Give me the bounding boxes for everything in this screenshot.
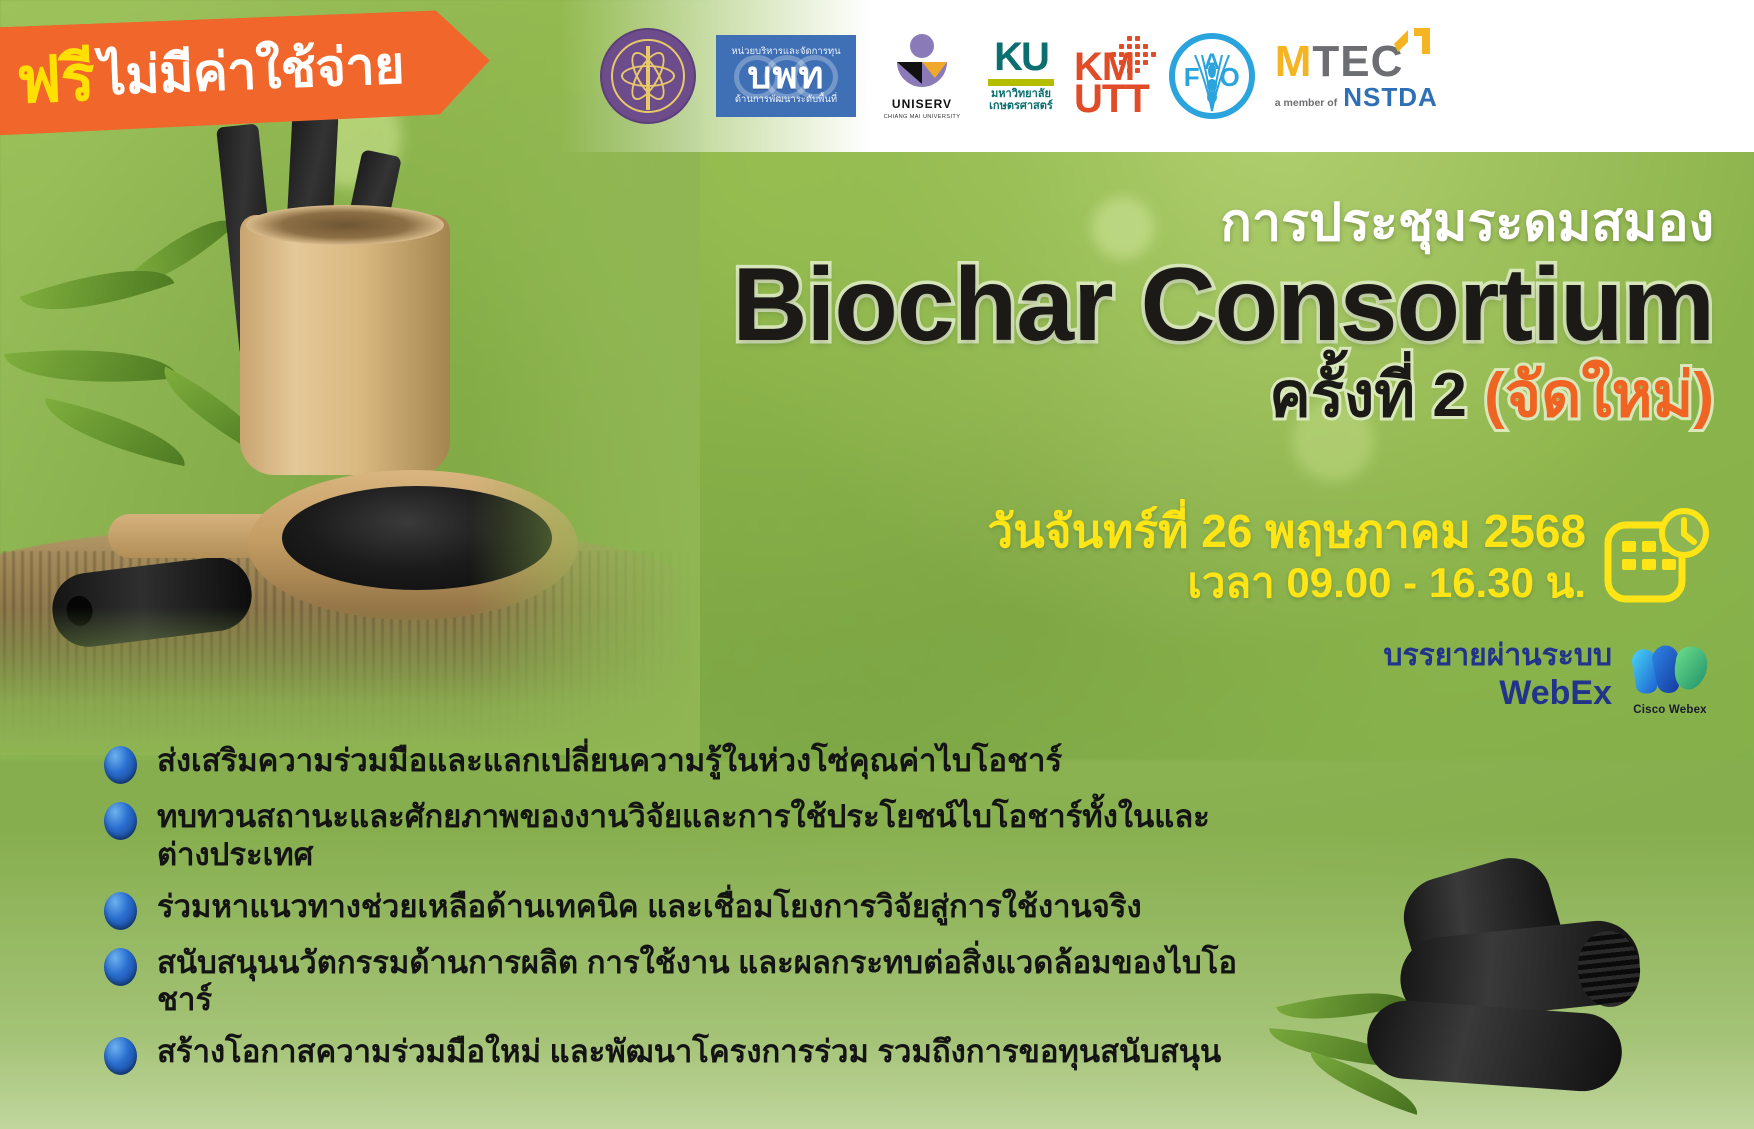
- broadcast-via-label: บรรยายผ่านระบบ: [1383, 639, 1612, 674]
- objective-text: สร้างโอกาสความร่วมมือใหม่ และพัฒนาโครงกา…: [157, 1033, 1221, 1071]
- bullet-dot-icon: [104, 802, 137, 840]
- objective-text: สนับสนุนนวัตกรรมด้านการผลิต การใช้งาน แล…: [157, 944, 1244, 1020]
- list-item: สนับสนุนนวัตกรรมด้านการผลิต การใช้งาน แล…: [104, 944, 1244, 1020]
- ministry-higher-education-seal: [600, 28, 696, 124]
- objective-text: ทบทวนสถานะและศักยภาพของงานวิจัยและการใช้…: [157, 798, 1244, 874]
- bullet-dot-icon: [104, 892, 137, 930]
- ku-initials: KU: [994, 39, 1048, 76]
- event-date: วันจันทร์ที่ 26 พฤษภาคม 2568: [987, 504, 1586, 558]
- list-item: ส่งเสริมความร่วมมือและแลกเปลี่ยนความรู้ใ…: [104, 742, 1244, 784]
- fao-letter-a: A: [1204, 49, 1220, 75]
- bullet-dot-icon: [104, 746, 137, 784]
- bullet-dot-icon: [104, 1037, 137, 1075]
- list-item: สร้างโอกาสความร่วมมือใหม่ และพัฒนาโครงกา…: [104, 1033, 1244, 1075]
- objectives-list: ส่งเสริมความร่วมมือและแลกเปลี่ยนความรู้ใ…: [104, 742, 1244, 1089]
- ku-thai-line1: มหาวิทยาลัย: [989, 88, 1053, 100]
- partner-logo-bar: หน่วยบริหารและจัดการทุน บพท ด้านการพัฒนา…: [560, 0, 1754, 152]
- trident-icon: [646, 46, 650, 110]
- photo-bottom-fade: [0, 607, 700, 755]
- fao-letter-f: F: [1184, 62, 1200, 93]
- webex-block: บรรยายผ่านระบบ WebEx: [1383, 636, 1714, 716]
- bpt-rings-icon: [734, 55, 838, 99]
- fao-logo: F A O: [1169, 33, 1255, 119]
- cisco-webex-caption: Cisco Webex: [1626, 704, 1714, 716]
- mtec-nstda-logo: MTEC a member of NSTDA: [1275, 42, 1438, 110]
- webex-mark-icon: [1626, 636, 1714, 702]
- mtec-block: MTEC a member of NSTDA: [1275, 42, 1438, 110]
- ku-block: KU มหาวิทยาลัย เกษตรศาสตร์: [988, 39, 1054, 112]
- event-datetime-block: วันจันทร์ที่ 26 พฤษภาคม 2568 เวลา 09.00 …: [987, 504, 1714, 609]
- uniserv-cmu-logo: UNISERV CHIANG MAI UNIVERSITY: [876, 32, 968, 120]
- free-label: ฟรี: [15, 46, 95, 113]
- event-subtitle: ครั้งที่ 2 (จัดใหม่): [554, 361, 1714, 430]
- mtec-member-of-label: a member of: [1275, 97, 1337, 109]
- list-item: ร่วมหาแนวทางช่วยเหลือด้านเทคนิค และเชื่อ…: [104, 888, 1244, 930]
- headline-block: การประชุมระดมสมอง Biochar Consortium ครั…: [554, 196, 1714, 431]
- list-item: ทบทวนสถานะและศักยภาพของงานวิจัยและการใช้…: [104, 798, 1244, 874]
- edition-label: ครั้งที่ 2: [1269, 361, 1484, 430]
- calendar-clock-icon: [1604, 507, 1714, 605]
- kmutt-block: KM UTT: [1074, 36, 1149, 116]
- objective-text: ร่วมหาแนวทางช่วยเหลือด้านเทคนิค และเชื่อ…: [157, 888, 1142, 926]
- bpt-logo: หน่วยบริหารและจัดการทุน บพท ด้านการพัฒนา…: [716, 35, 856, 117]
- ku-thai-line2: เกษตรศาสตร์: [989, 100, 1053, 112]
- uniserv-mark-icon: [891, 32, 953, 94]
- bamboo-mortar: [240, 215, 450, 475]
- cisco-webex-logo: Cisco Webex: [1626, 636, 1714, 716]
- mtec-letter-m: M: [1275, 37, 1313, 86]
- kmutt-dots-icon: [1105, 36, 1161, 82]
- poster-root: หน่วยบริหารและจัดการทุน บพท ด้านการพัฒนา…: [0, 0, 1754, 1129]
- bpt-badge: หน่วยบริหารและจัดการทุน บพท ด้านการพัฒนา…: [716, 35, 856, 117]
- mtec-arrow-icon: [1388, 22, 1444, 62]
- objective-text: ส่งเสริมความร่วมมือและแลกเปลี่ยนความรู้ใ…: [157, 742, 1062, 780]
- page-title: Biochar Consortium: [554, 253, 1714, 357]
- kasetsart-university-logo: KU มหาวิทยาลัย เกษตรศาสตร์: [988, 39, 1054, 112]
- charcoal-log: [1365, 998, 1625, 1094]
- bamboo-leaf-icon: [4, 336, 177, 396]
- datetime-text: วันจันทร์ที่ 26 พฤษภาคม 2568 เวลา 09.00 …: [987, 504, 1586, 609]
- charcoal-logs-illustration: [1314, 875, 1644, 1105]
- fao-letter-o: O: [1220, 62, 1240, 93]
- kmutt-logo: KM UTT: [1074, 36, 1149, 116]
- uniserv-block: UNISERV CHIANG MAI UNIVERSITY: [876, 32, 968, 120]
- ku-divider: [988, 79, 1054, 86]
- fao-badge: F A O: [1169, 33, 1255, 119]
- seal-icon: [600, 28, 696, 124]
- event-time: เวลา 09.00 - 16.30 น.: [987, 558, 1586, 608]
- rescheduled-label: (จัดใหม่): [1484, 361, 1714, 430]
- event-kicker: การประชุมระดมสมอง: [554, 196, 1714, 251]
- uniserv-sublabel: CHIANG MAI UNIVERSITY: [884, 114, 961, 120]
- webex-text: บรรยายผ่านระบบ WebEx: [1383, 639, 1612, 713]
- kmutt-line2: UTT: [1074, 83, 1149, 116]
- nstda-label: NSTDA: [1343, 84, 1438, 110]
- bullet-dot-icon: [104, 948, 137, 986]
- uniserv-label: UNISERV: [892, 97, 952, 111]
- webex-platform-label: WebEx: [1383, 674, 1612, 713]
- no-fee-label: ไม่มีค่าใช้จ่าย: [99, 40, 405, 104]
- bamboo-leaf-icon: [38, 398, 193, 466]
